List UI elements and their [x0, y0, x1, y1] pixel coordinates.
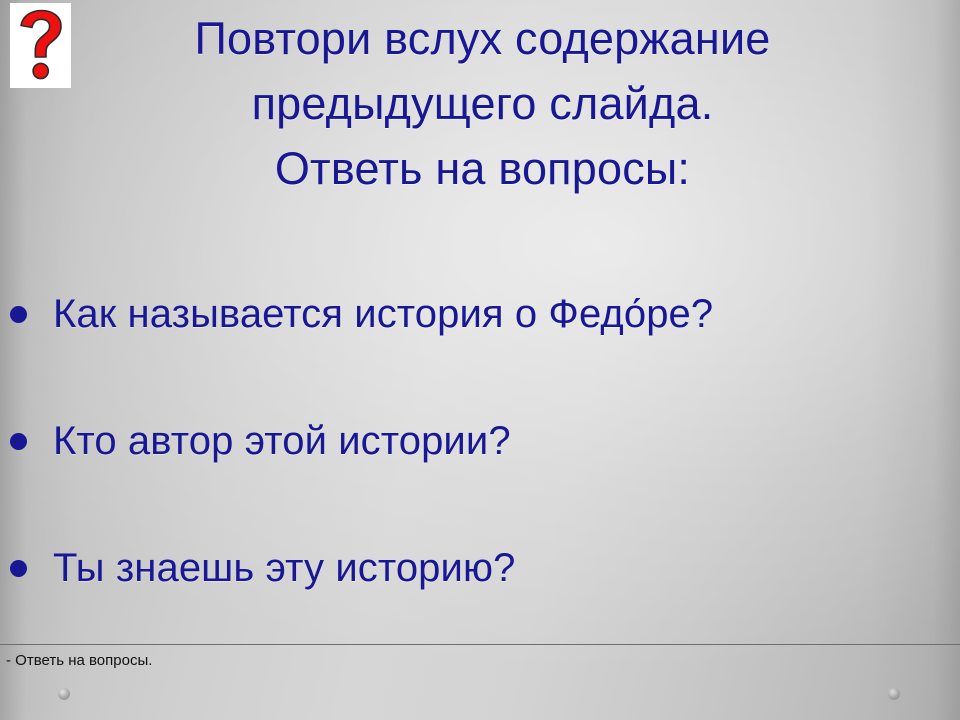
footer-note: - Ответь на вопросы. — [6, 651, 152, 671]
list-item: Ты знаешь эту историю? — [0, 542, 960, 594]
footer-divider — [0, 644, 960, 645]
decorative-dot-left — [58, 688, 70, 700]
decorative-dot-right — [888, 688, 900, 700]
bullet-dot-icon — [10, 306, 27, 323]
list-item: Кто автор этой истории? — [0, 415, 960, 467]
list-item-label: Ты знаешь эту историю? — [53, 542, 515, 594]
list-item: Как называется история о Федо́ре? — [0, 288, 960, 340]
bullet-dot-icon — [10, 433, 27, 450]
question-mark-icon — [10, 3, 71, 88]
title-line-3: Ответь на вопросы: — [60, 136, 905, 201]
title-line-2: предыдущего слайда. — [60, 71, 905, 136]
slide-canvas: Повтори вслух содержание предыдущего сла… — [0, 0, 960, 720]
list-item-label: Кто автор этой истории? — [53, 415, 511, 467]
bullet-dot-icon — [10, 560, 27, 577]
page-title: Повтори вслух содержание предыдущего сла… — [60, 6, 905, 201]
list-item-label: Как называется история о Федо́ре? — [53, 288, 713, 340]
title-line-1: Повтори вслух содержание — [60, 6, 905, 71]
question-list: Как называется история о Федо́ре? Кто ав… — [0, 288, 960, 594]
